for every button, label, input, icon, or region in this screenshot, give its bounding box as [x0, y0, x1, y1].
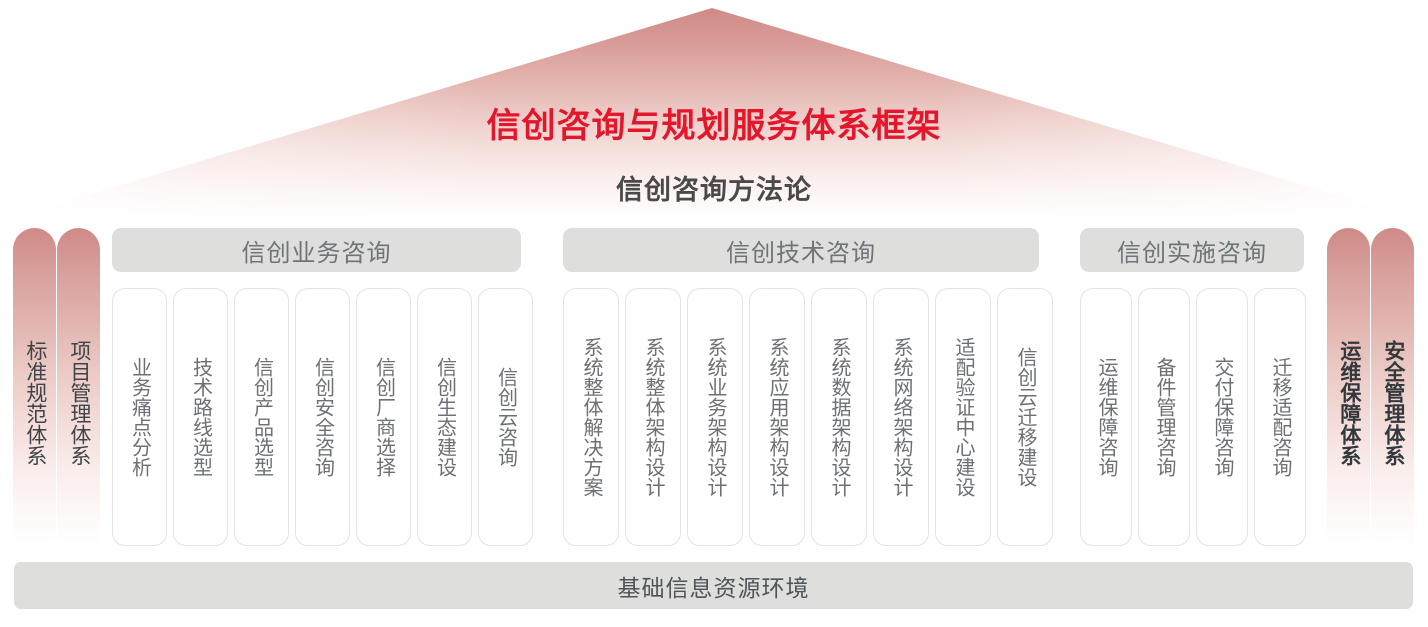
card-item[interactable]: 交付保障咨询 — [1196, 288, 1248, 546]
card-item[interactable]: 业务痛点分析 — [112, 288, 167, 546]
card-label: 业务痛点分析 — [129, 357, 151, 477]
pillar-project-management-system[interactable]: 项目管理体系 — [57, 228, 100, 550]
card-label: 系统网络架构设计 — [890, 337, 912, 497]
group-header[interactable]: 信创业务咨询 — [112, 228, 521, 272]
group-card-row: 业务痛点分析 技术路线选型 信创产品选型 信创安全咨询 信创厂商选择 信创生态建… — [112, 288, 533, 546]
card-item[interactable]: 系统整体解决方案 — [563, 288, 619, 546]
card-label: 信创云迁移建设 — [1014, 347, 1036, 487]
group-technical-consulting: 信创技术咨询 系统整体解决方案 系统整体架构设计 系统业务架构设计 系统应用架构… — [563, 228, 1039, 272]
diagram-canvas: 信创咨询与规划服务体系框架 信创咨询方法论 标准规范体系 项目管理体系 运维保障… — [0, 0, 1428, 627]
pillar-security-management-system[interactable]: 安全管理体系 — [1371, 228, 1414, 550]
group-card-row: 系统整体解决方案 系统整体架构设计 系统业务架构设计 系统应用架构设计 系统数据… — [563, 288, 1053, 546]
card-item[interactable]: 系统整体架构设计 — [625, 288, 681, 546]
card-item[interactable]: 备件管理咨询 — [1138, 288, 1190, 546]
group-header[interactable]: 信创实施咨询 — [1080, 228, 1304, 272]
group-business-consulting: 信创业务咨询 业务痛点分析 技术路线选型 信创产品选型 信创安全咨询 信创厂商选… — [112, 228, 521, 272]
card-label: 系统数据架构设计 — [828, 337, 850, 497]
pillar-standard-specification-system[interactable]: 标准规范体系 — [13, 228, 56, 550]
foundation-bar-label: 基础信息资源环境 — [618, 569, 810, 603]
card-label: 系统整体架构设计 — [642, 337, 664, 497]
card-item[interactable]: 系统应用架构设计 — [749, 288, 805, 546]
card-item[interactable]: 系统数据架构设计 — [811, 288, 867, 546]
card-item[interactable]: 迁移适配咨询 — [1254, 288, 1306, 546]
card-item[interactable]: 技术路线选型 — [173, 288, 228, 546]
pillar-label: 安全管理体系 — [1381, 340, 1404, 466]
card-label: 信创产品选型 — [251, 357, 273, 477]
card-label: 适配验证中心建设 — [952, 337, 974, 497]
card-label: 系统整体解决方案 — [580, 337, 602, 497]
card-label: 迁移适配咨询 — [1269, 357, 1291, 477]
card-label: 信创安全咨询 — [312, 357, 334, 477]
card-label: 信创云咨询 — [495, 367, 517, 467]
card-label: 信创厂商选择 — [373, 357, 395, 477]
diagram-subtitle: 信创咨询方法论 — [0, 168, 1428, 207]
card-label: 备件管理咨询 — [1153, 357, 1175, 477]
card-item[interactable]: 适配验证中心建设 — [935, 288, 991, 546]
card-item[interactable]: 信创安全咨询 — [295, 288, 350, 546]
card-item[interactable]: 信创产品选型 — [234, 288, 289, 546]
card-item[interactable]: 信创云咨询 — [478, 288, 533, 546]
card-label: 运维保障咨询 — [1095, 357, 1117, 477]
foundation-bar[interactable]: 基础信息资源环境 — [14, 562, 1413, 609]
group-card-row: 运维保障咨询 备件管理咨询 交付保障咨询 迁移适配咨询 — [1080, 288, 1306, 546]
card-item[interactable]: 运维保障咨询 — [1080, 288, 1132, 546]
roof-triangle: 信创咨询与规划服务体系框架 信创咨询方法论 — [0, 0, 1428, 222]
pillar-label: 运维保障体系 — [1337, 340, 1360, 466]
card-item[interactable]: 系统业务架构设计 — [687, 288, 743, 546]
card-label: 信创生态建设 — [434, 357, 456, 477]
diagram-title: 信创咨询与规划服务体系框架 — [0, 98, 1428, 147]
pillar-label: 标准规范体系 — [23, 340, 46, 466]
group-header[interactable]: 信创技术咨询 — [563, 228, 1039, 272]
group-implementation-consulting: 信创实施咨询 运维保障咨询 备件管理咨询 交付保障咨询 迁移适配咨询 — [1080, 228, 1304, 272]
card-label: 技术路线选型 — [190, 357, 212, 477]
card-item[interactable]: 信创厂商选择 — [356, 288, 411, 546]
card-item[interactable]: 信创云迁移建设 — [997, 288, 1053, 546]
pillar-operations-assurance-system[interactable]: 运维保障体系 — [1327, 228, 1370, 550]
card-label: 系统应用架构设计 — [766, 337, 788, 497]
card-label: 交付保障咨询 — [1211, 357, 1233, 477]
pillar-label: 项目管理体系 — [67, 340, 90, 466]
card-label: 系统业务架构设计 — [704, 337, 726, 497]
card-item[interactable]: 信创生态建设 — [417, 288, 472, 546]
card-item[interactable]: 系统网络架构设计 — [873, 288, 929, 546]
